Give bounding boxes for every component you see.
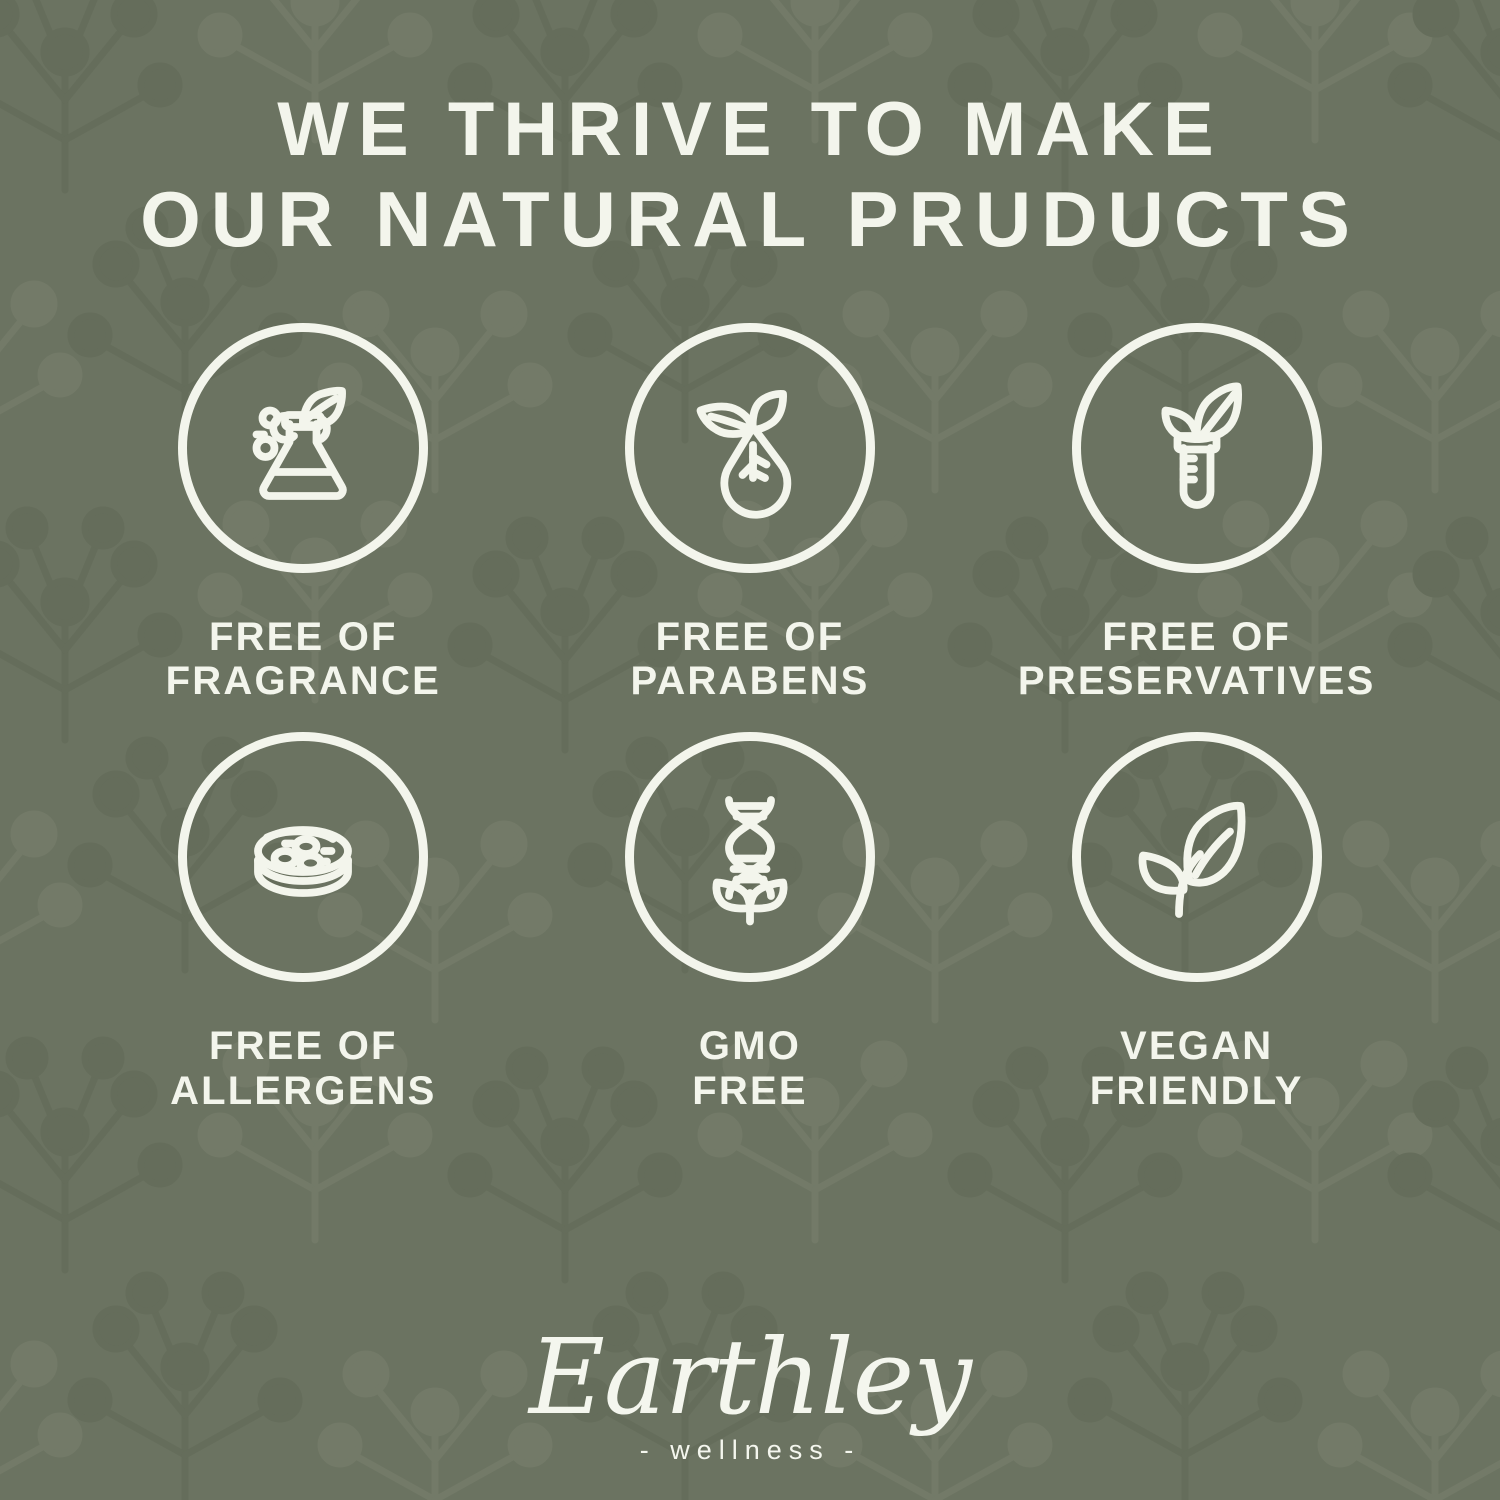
- benefit-label-line-2: FRAGRANCE: [166, 659, 441, 704]
- benefit-label-line-2: ALLERGENS: [170, 1069, 436, 1114]
- brand-tagline: - wellness -: [0, 1435, 1500, 1466]
- headline-line-2: OUR NATURAL PRUDUCTS: [140, 174, 1360, 264]
- badge-circle-fragrance: [178, 323, 428, 573]
- page-title: WE THRIVE TO MAKE OUR NATURAL PRUDUCTS: [140, 86, 1360, 265]
- benefit-label-vegan-friendly: VEGAN FRIENDLY: [1090, 1024, 1304, 1114]
- benefit-item-free-of-parabens: FREE OF PARABENS: [527, 323, 974, 705]
- benefit-item-free-of-allergens: FREE OF ALLERGENS: [80, 732, 527, 1114]
- benefit-label-line-2: FREE: [692, 1069, 807, 1114]
- benefit-label-line-1: FREE OF: [166, 615, 441, 660]
- benefit-label-line-2: FRIENDLY: [1090, 1069, 1304, 1114]
- badge-circle-preservatives: [1072, 323, 1322, 573]
- badge-circle-parabens: [625, 323, 875, 573]
- benefit-item-free-of-preservatives: FREE OF PRESERVATIVES: [973, 323, 1420, 705]
- brand-logo: Earthley - wellness -: [0, 1325, 1500, 1466]
- droplet-seed-with-leaves-icon: [675, 373, 825, 523]
- leaf-sprout-icon: [1122, 782, 1272, 932]
- benefit-item-vegan-friendly: VEGAN FRIENDLY: [973, 732, 1420, 1114]
- benefit-label-free-of-preservatives: FREE OF PRESERVATIVES: [1018, 615, 1376, 705]
- benefit-label-free-of-fragrance: FREE OF FRAGRANCE: [166, 615, 441, 705]
- badge-circle-allergens: [178, 732, 428, 982]
- benefit-label-line-1: FREE OF: [170, 1024, 436, 1069]
- benefit-label-line-1: GMO: [692, 1024, 807, 1069]
- badge-circle-vegan: [1072, 732, 1322, 982]
- benefit-item-free-of-fragrance: FREE OF FRAGRANCE: [80, 323, 527, 705]
- benefit-item-gmo-free: GMO FREE: [527, 732, 974, 1114]
- benefits-grid: FREE OF FRAGRANCE: [80, 323, 1420, 1114]
- dna-helix-with-sprout-icon: [675, 782, 825, 932]
- headline-line-1: WE THRIVE TO MAKE: [140, 86, 1360, 174]
- benefit-label-line-1: FREE OF: [630, 615, 869, 660]
- badge-circle-gmo: [625, 732, 875, 982]
- benefit-label-free-of-allergens: FREE OF ALLERGENS: [170, 1024, 436, 1114]
- benefit-label-line-2: PRESERVATIVES: [1018, 659, 1376, 704]
- benefit-label-line-1: VEGAN: [1090, 1024, 1304, 1069]
- poster-canvas: WE THRIVE TO MAKE OUR NATURAL PRUDUCTS: [0, 0, 1500, 1500]
- brand-wordmark: Earthley: [0, 1325, 1500, 1429]
- flask-with-leaf-and-bubbles-icon: [228, 373, 378, 523]
- test-tube-with-leaves-icon: [1122, 373, 1272, 523]
- benefit-label-line-2: PARABENS: [630, 659, 869, 704]
- benefit-label-free-of-parabens: FREE OF PARABENS: [630, 615, 869, 705]
- benefit-label-gmo-free: GMO FREE: [692, 1024, 807, 1114]
- benefit-label-line-1: FREE OF: [1018, 615, 1376, 660]
- petri-dish-with-cells-icon: [228, 782, 378, 932]
